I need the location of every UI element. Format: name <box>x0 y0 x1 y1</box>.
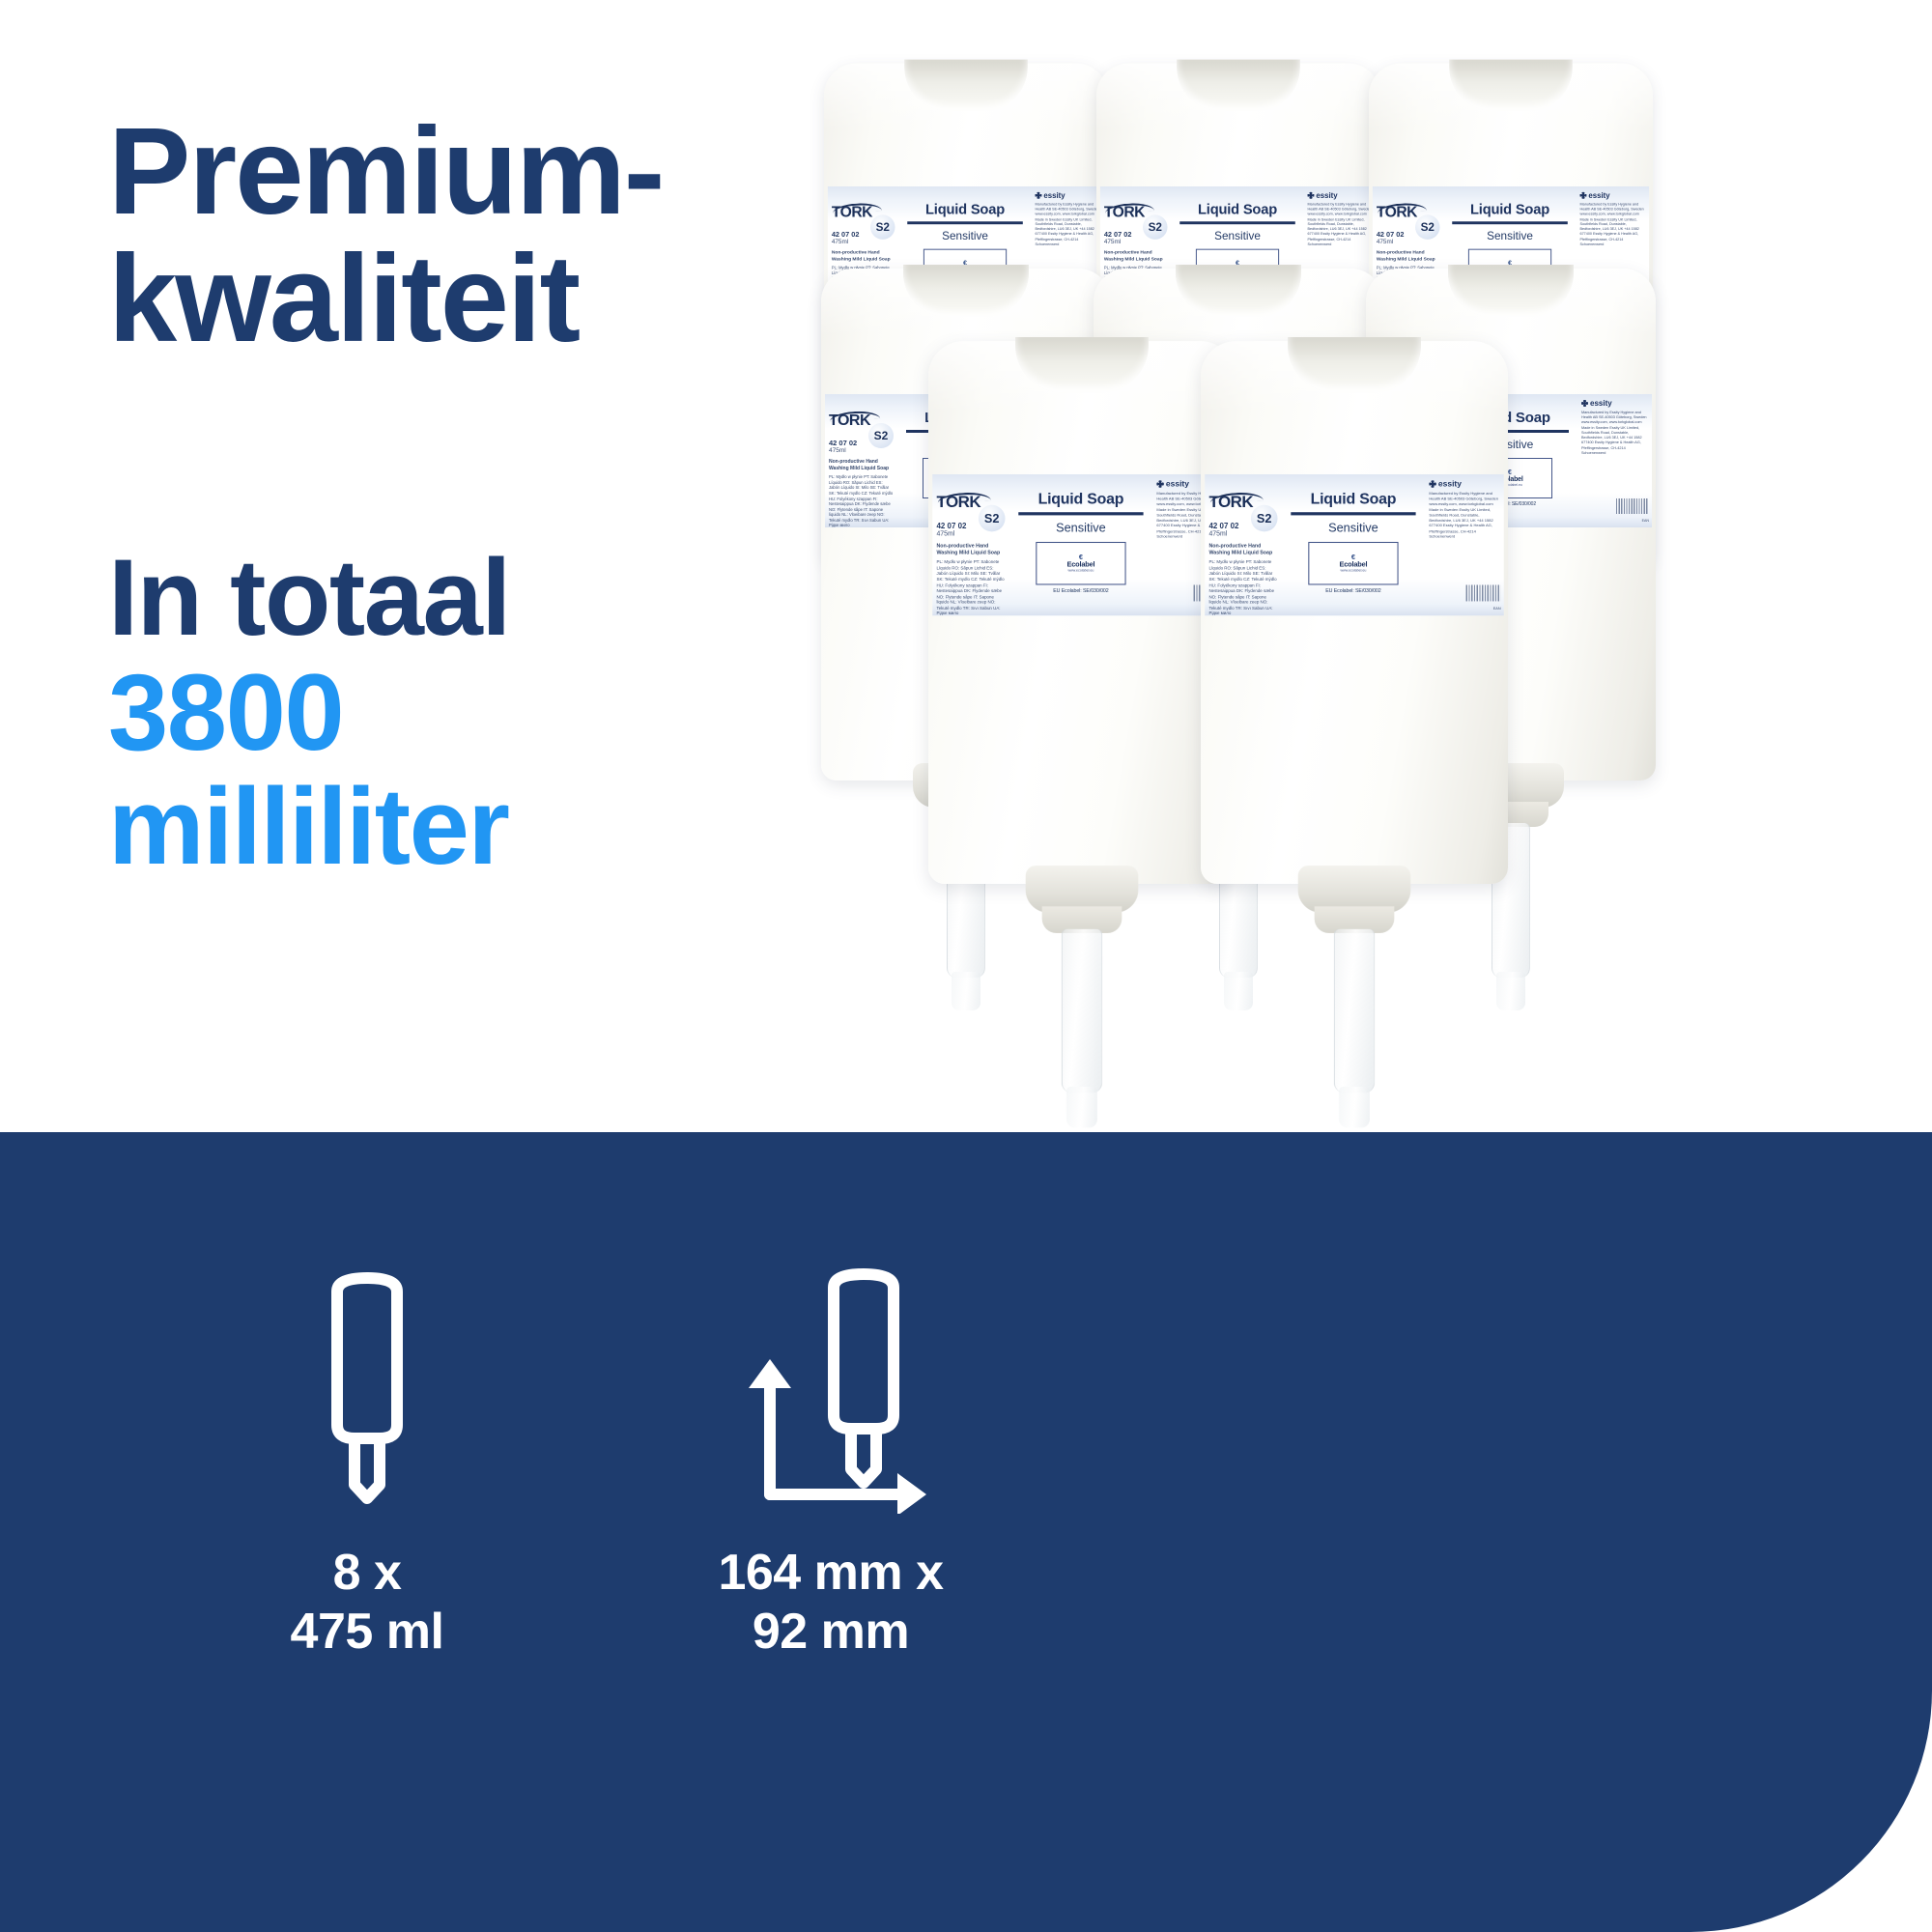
essity-mark-icon <box>1581 400 1588 407</box>
product-description: Non-productive Hand Washing Mild Liquid … <box>936 543 1005 556</box>
top-panel: Premium- kwaliteit In totaal 3800 millil… <box>0 0 1932 1132</box>
ecolabel-word: Ecolabel <box>1340 561 1368 568</box>
ecolabel-badge: € Ecolabel www.ecolabel.eu <box>1036 541 1125 584</box>
product-description: Non-productive Hand Washing Mild Liquid … <box>829 459 894 471</box>
label-divider <box>1018 512 1143 515</box>
barcode-label: EAN <box>1493 607 1501 611</box>
marketing-banner: Premium- kwaliteit In totaal 3800 millil… <box>0 0 1932 1932</box>
essity-mark-icon <box>1580 192 1587 199</box>
pump-nozzle <box>1020 866 1143 1173</box>
label-right-column: essity Manufactured by Essity Hygiene an… <box>1578 394 1652 527</box>
product-bottle: TORK 42 07 02 475ml Non-productive Hand … <box>928 341 1236 915</box>
essity-wordmark: essity <box>1316 191 1337 200</box>
essity-logo: essity <box>1580 191 1646 200</box>
product-image: TORK 42 07 02 475ml Non-productive Hand … <box>831 29 1922 1121</box>
label-divider <box>1179 221 1295 223</box>
dimensions-bottle-icon <box>618 1258 1043 1519</box>
label-divider <box>1452 221 1568 223</box>
system-badge: S2 <box>870 214 895 239</box>
system-badge: S2 <box>1415 214 1439 239</box>
product-description: Non-productive Hand Washing Mild Liquid … <box>832 250 895 263</box>
headline-block: Premium- kwaliteit <box>108 108 842 363</box>
ecolabel-caption: EU Ecolabel: SE/030/002 <box>1009 587 1154 593</box>
product-volume: 475ml <box>936 531 1005 538</box>
essity-wordmark: essity <box>1588 191 1609 200</box>
eco-e-letter: € <box>1079 554 1083 560</box>
manufacturer-info: Manufactured by Essity Hygiene and Healt… <box>1580 203 1646 247</box>
manufacturer-info: Manufactured by Essity Hygiene and Healt… <box>1036 203 1101 247</box>
product-subtitle: Sensitive <box>1281 520 1427 534</box>
essity-mark-icon <box>1308 192 1315 199</box>
system-badge: S2 <box>979 505 1006 532</box>
manufacturer-info: Manufactured by Essity Hygiene and Healt… <box>1581 411 1648 456</box>
bottle-body: TORK 42 07 02 475ml Non-productive Hand … <box>928 341 1236 884</box>
feature-quantity: 8 x 475 ml <box>174 1258 560 1662</box>
feature-row: 8 x 475 ml <box>0 1132 1932 1932</box>
feature-quantity-label: 8 x 475 ml <box>174 1544 560 1662</box>
product-subtitle: Sensitive <box>897 229 1032 242</box>
product-description: Non-productive Hand Washing Mild Liquid … <box>1377 250 1440 263</box>
product-volume: 475ml <box>829 447 894 454</box>
label-left-column: TORK 42 07 02 475ml Non-productive Hand … <box>1205 474 1280 615</box>
subhead-primary: In totaal <box>108 541 842 656</box>
language-list: PL: Mydło w płynie PT: Sabonete Líquido … <box>936 559 1005 615</box>
bottom-panel: 8 x 475 ml <box>0 1132 1932 1932</box>
product-subtitle: Sensitive <box>1170 229 1304 242</box>
essity-logo: essity <box>1036 191 1101 200</box>
essity-wordmark: essity <box>1590 399 1612 408</box>
label-left-column: TORK 42 07 02 475ml Non-productive Hand … <box>825 394 896 527</box>
product-title: Liquid Soap <box>897 202 1032 218</box>
subhead-volume: 3800 milliliter <box>108 656 842 885</box>
product-title: Liquid Soap <box>1009 491 1154 508</box>
product-label: TORK 42 07 02 475ml Non-productive Hand … <box>932 474 1232 615</box>
ecolabel-url: www.ecolabel.eu <box>1340 568 1366 572</box>
ecolabel-badge: € Ecolabel www.ecolabel.eu <box>1308 541 1398 584</box>
manufacturer-info: Manufactured by Essity Hygiene and Healt… <box>1308 203 1374 247</box>
barcode-icon <box>1616 498 1649 514</box>
essity-wordmark: essity <box>1043 191 1065 200</box>
feature-dimensions: 164 mm x 92 mm <box>618 1258 1043 1662</box>
label-divider <box>907 221 1023 223</box>
product-description: Non-productive Hand Washing Mild Liquid … <box>1208 543 1277 556</box>
bottle-body: TORK 42 07 02 475ml Non-productive Hand … <box>1201 341 1508 884</box>
essity-logo: essity <box>1308 191 1374 200</box>
ecolabel-caption: EU Ecolabel: SE/030/002 <box>1281 587 1427 593</box>
ecolabel-word: Ecolabel <box>1067 561 1095 568</box>
barcode-icon <box>1466 584 1501 601</box>
label-center-column: Liquid Soap Sensitive € Ecolabel www.eco… <box>1009 474 1154 615</box>
product-volume: 475ml <box>832 239 895 245</box>
page-title: Premium- kwaliteit <box>108 108 842 363</box>
product-subtitle: Sensitive <box>1442 229 1577 242</box>
system-badge: S2 <box>1251 505 1278 532</box>
essity-logo: essity <box>1581 399 1648 408</box>
label-divider <box>1291 512 1415 515</box>
pump-nozzle <box>1293 866 1415 1173</box>
system-badge: S2 <box>1143 214 1167 239</box>
label-center-column: Liquid Soap Sensitive € Ecolabel www.eco… <box>1281 474 1427 615</box>
essity-wordmark: essity <box>1166 479 1189 489</box>
eco-e-letter: € <box>1351 554 1355 560</box>
system-badge: S2 <box>868 423 894 448</box>
product-subtitle: Sensitive <box>1009 520 1154 534</box>
label-right-column: essity Manufactured by Essity Hygiene an… <box>1426 474 1504 615</box>
language-list: PL: Mydło w płynie PT: Sabonete Líquido … <box>829 474 894 527</box>
essity-wordmark: essity <box>1438 479 1462 489</box>
product-description: Non-productive Hand Washing Mild Liquid … <box>1104 250 1168 263</box>
soap-bottle-icon <box>174 1258 560 1519</box>
label-left-column: TORK 42 07 02 475ml Non-productive Hand … <box>932 474 1008 615</box>
ecolabel-url: www.ecolabel.eu <box>1067 568 1094 572</box>
product-volume: 475ml <box>1377 239 1440 245</box>
product-volume: 475ml <box>1104 239 1168 245</box>
feature-dimensions-label: 164 mm x 92 mm <box>618 1544 1043 1662</box>
eco-e-letter: € <box>1508 469 1512 476</box>
essity-logo: essity <box>1429 479 1499 489</box>
language-list: PL: Mydło w płynie PT: Sabonete Líquido … <box>1208 559 1277 615</box>
manufacturer-info: Manufactured by Essity Hygiene and Healt… <box>1429 492 1499 540</box>
barcode-label: EAN <box>1642 519 1649 523</box>
product-label: TORK 42 07 02 475ml Non-productive Hand … <box>1205 474 1504 615</box>
product-title: Liquid Soap <box>1281 491 1427 508</box>
essity-mark-icon <box>1036 192 1042 199</box>
product-title: Liquid Soap <box>1170 202 1304 218</box>
subhead-block: In totaal 3800 milliliter <box>108 541 842 885</box>
product-bottle: TORK 42 07 02 475ml Non-productive Hand … <box>1201 341 1508 915</box>
essity-mark-icon <box>1429 480 1435 487</box>
product-volume: 475ml <box>1208 531 1277 538</box>
essity-mark-icon <box>1156 480 1163 487</box>
product-title: Liquid Soap <box>1442 202 1577 218</box>
